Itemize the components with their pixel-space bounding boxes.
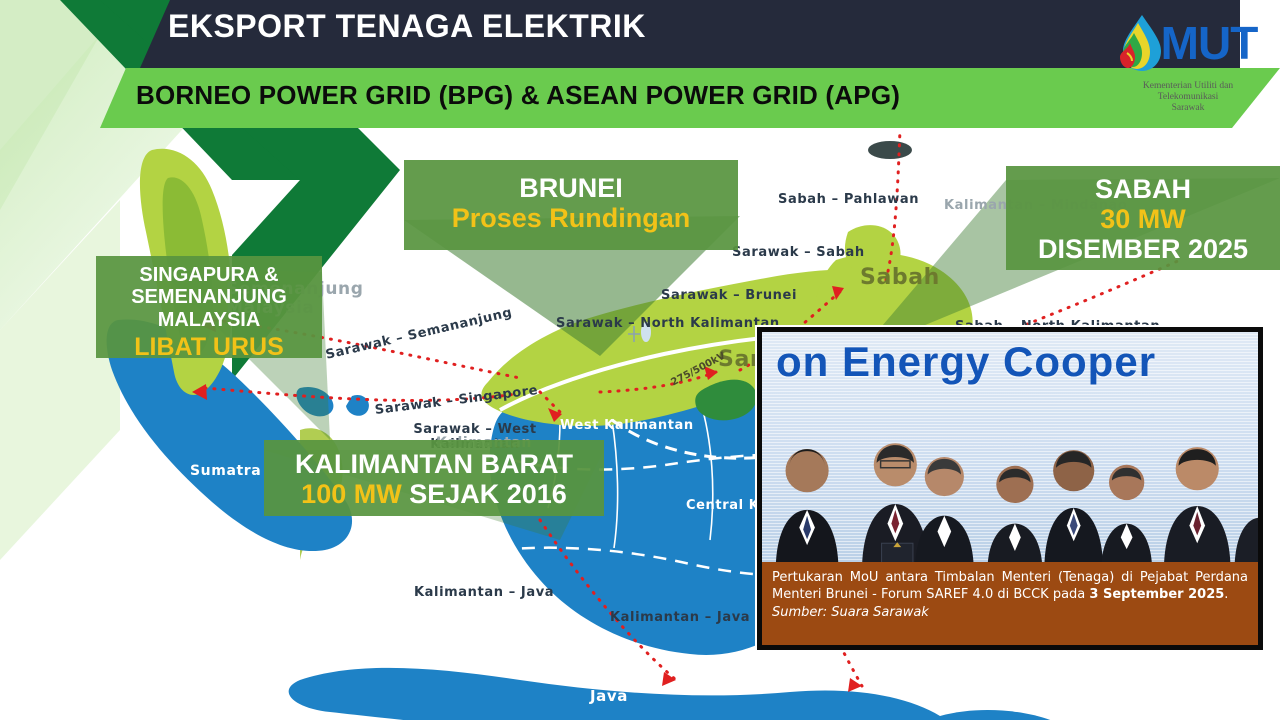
caption-source: Sumber: Suara Sarawak xyxy=(772,605,929,620)
callout-singapura-line-2: SEMENANJUNG xyxy=(110,286,308,308)
photo-card: on Energy Cooper xyxy=(757,327,1263,650)
callout-kalbar-detail: 100 MW SEJAK 2016 xyxy=(278,479,590,509)
callout-kalimantan-barat: KALIMANTAN BARAT 100 MW SEJAK 2016 xyxy=(264,440,604,516)
caption-date: 3 September 2025 xyxy=(1089,587,1224,602)
mut-logo: MUT Kementerian Utiliti dan Telekomunika… xyxy=(1104,6,1272,124)
slide-root: Sabah – Pahlawan Sarawak – Sabah Sarawak… xyxy=(0,0,1280,720)
callout-singapura-line-1: SINGAPURA & xyxy=(110,264,308,286)
callout-sabah-capacity: 30 MW xyxy=(1020,204,1266,234)
photo-people xyxy=(762,436,1258,572)
logo-subtitle: Kementerian Utiliti dan Telekomunikasi S… xyxy=(1104,81,1272,114)
photo-banner-text: on Energy Cooper xyxy=(776,338,1156,386)
flame-droplet-icon xyxy=(1119,13,1165,73)
callout-singapura-status: LIBAT URUS xyxy=(110,333,308,361)
caption-period: . xyxy=(1224,587,1228,602)
photo-image: on Energy Cooper xyxy=(762,332,1258,572)
callout-kalbar-since: SEJAK 2016 xyxy=(402,479,567,509)
logo-acronym: MUT xyxy=(1161,20,1258,66)
callout-kalbar-capacity: 100 MW xyxy=(301,479,402,509)
logo-subtitle-line-3: Sarawak xyxy=(1104,103,1272,114)
callout-singapura-line-3: MALAYSIA xyxy=(110,309,308,331)
callout-brunei: BRUNEI Proses Rundingan xyxy=(404,160,738,250)
callout-sabah: SABAH 30 MW DISEMBER 2025 xyxy=(1006,166,1280,270)
callout-sabah-date: DISEMBER 2025 xyxy=(1020,234,1266,264)
logo-subtitle-line-1: Kementerian Utiliti dan xyxy=(1104,81,1272,92)
logo-subtitle-line-2: Telekomunikasi xyxy=(1104,92,1272,103)
logo-row: MUT xyxy=(1104,6,1272,80)
callout-sabah-title: SABAH xyxy=(1020,174,1266,204)
callout-brunei-title: BRUNEI xyxy=(418,173,724,203)
page-subtitle: BORNEO POWER GRID (BPG) & ASEAN POWER GR… xyxy=(136,80,900,111)
callout-brunei-status: Proses Rundingan xyxy=(418,203,724,233)
photo-caption: Pertukaran MoU antara Timbalan Menteri (… xyxy=(762,562,1258,645)
page-title: EKSPORT TENAGA ELEKTRIK xyxy=(168,8,646,45)
callout-singapura-semenanjung: SINGAPURA & SEMENANJUNG MALAYSIA LIBAT U… xyxy=(96,256,322,358)
callout-kalbar-title: KALIMANTAN BARAT xyxy=(278,449,590,479)
